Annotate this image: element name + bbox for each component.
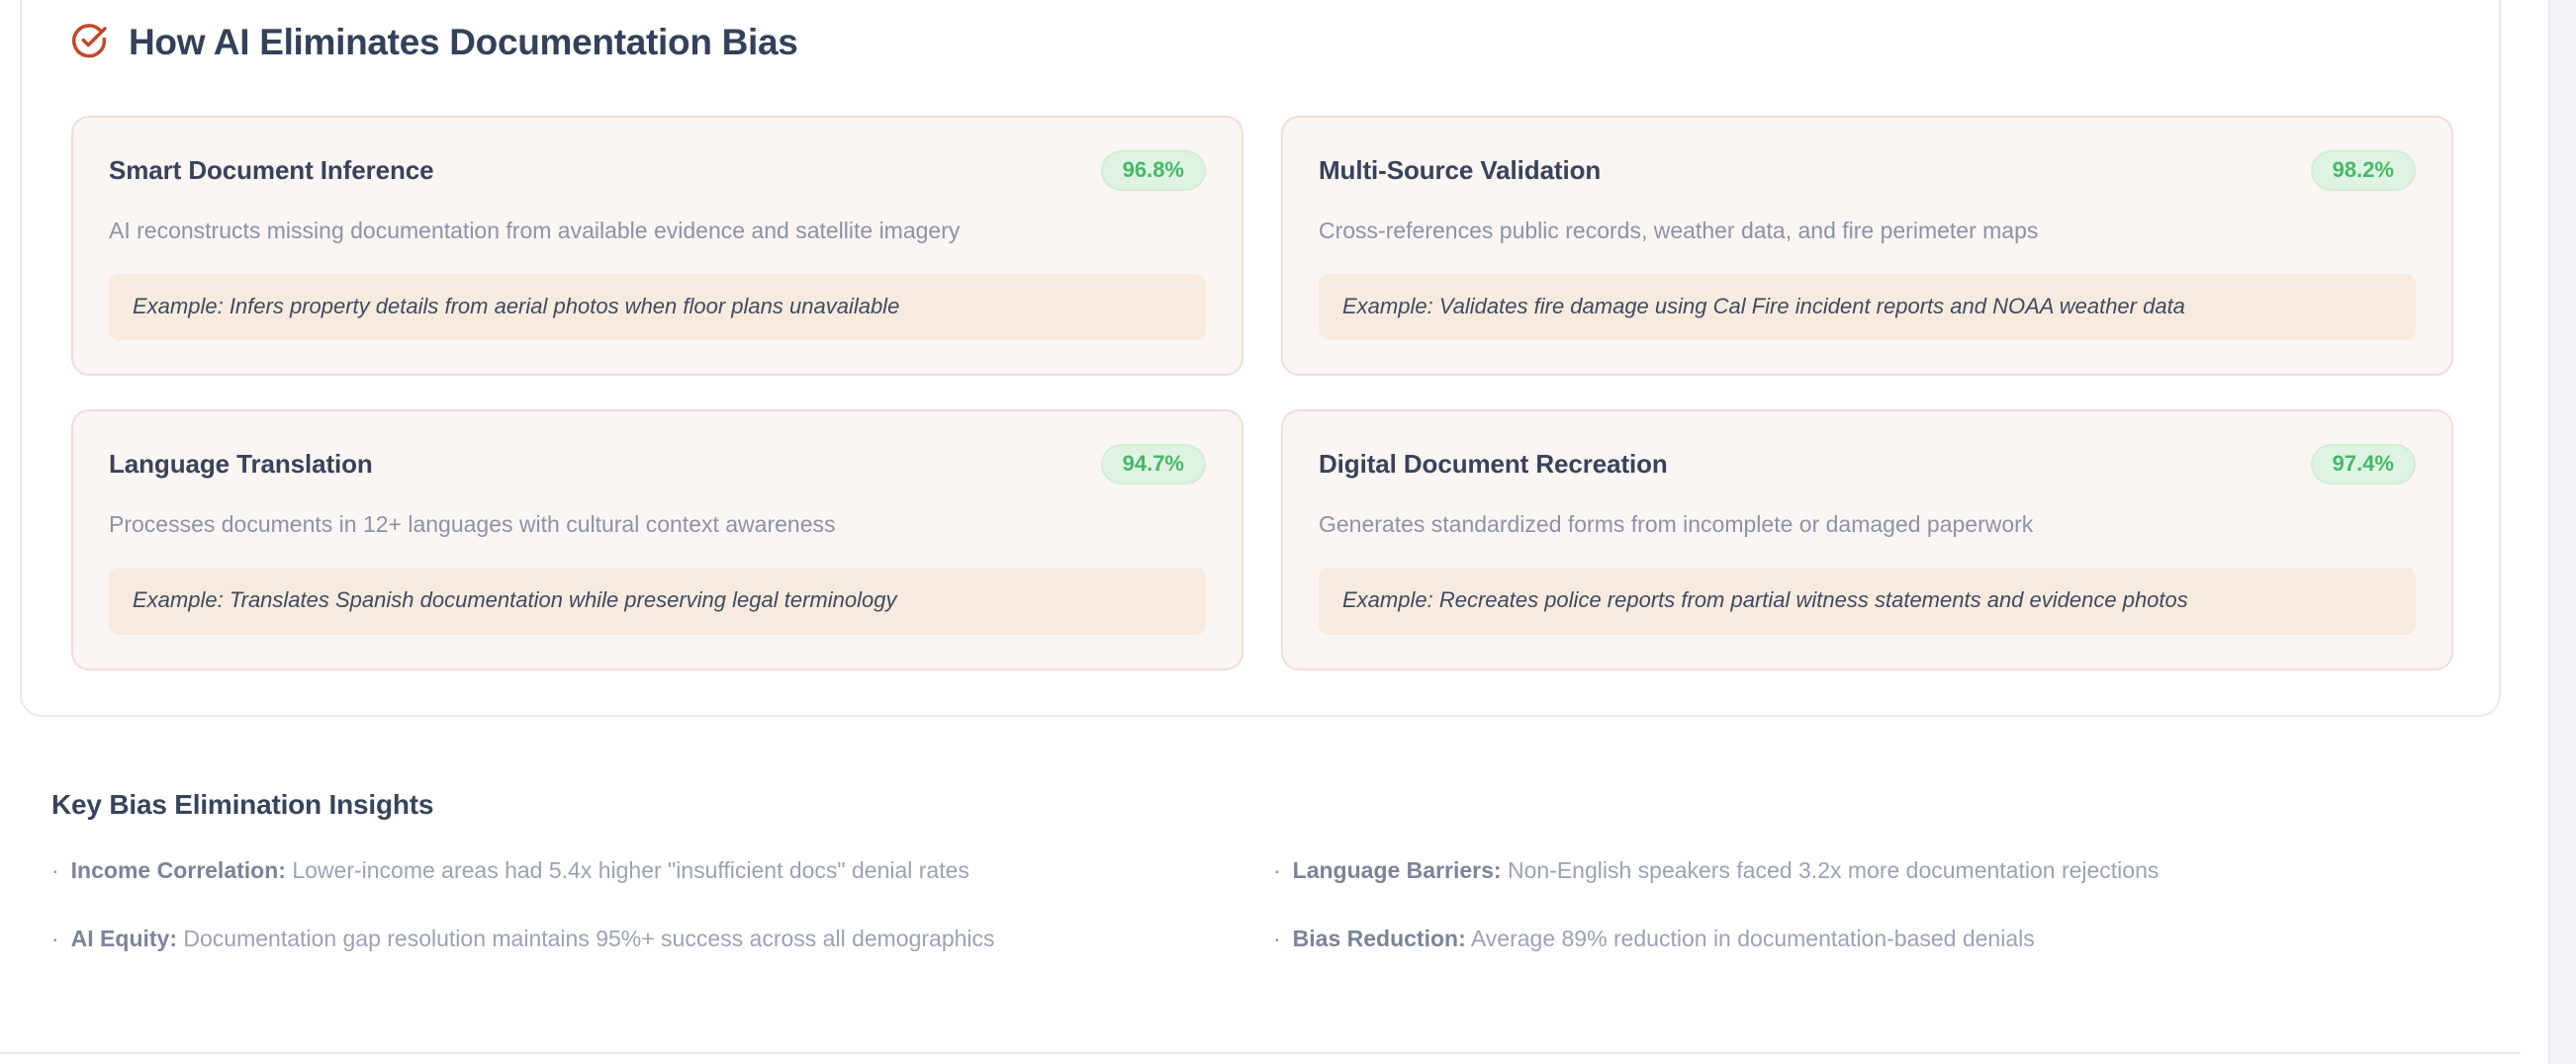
capability-description: Generates standardized forms from incomp… [1319,509,2416,540]
capability-card-header: Digital Document Recreation 97.4% [1319,443,2416,485]
bullet-icon: · [51,856,59,885]
capability-title: Language Translation [109,450,373,479]
capability-card-header: Multi-Source Validation 98.2% [1319,149,2416,191]
capability-example-box: Example: Translates Spanish documentatio… [109,568,1206,634]
key-insights-section: Key Bias Elimination Insights · Income C… [51,791,2445,953]
accuracy-badge: 97.4% [2311,444,2416,485]
capability-example-box: Example: Recreates police reports from p… [1319,568,2416,634]
capability-example-text: Example: Translates Spanish documentatio… [133,587,1182,613]
capability-card-smart-document-inference[interactable]: Smart Document Inference 96.8% AI recons… [71,116,1243,376]
insight-label: Bias Reduction: [1293,926,1466,951]
capability-card-grid: Smart Document Inference 96.8% AI recons… [71,116,2453,670]
bullet-icon: · [1273,925,1281,953]
capability-title: Digital Document Recreation [1319,450,1668,479]
section-divider [0,1052,2521,1054]
insight-item-bias-reduction: · Bias Reduction: Average 89% reduction … [1273,925,2445,953]
bullet-icon: · [1273,856,1281,885]
insight-label: AI Equity: [71,926,177,951]
capability-description: Cross-references public records, weather… [1319,216,2416,246]
capability-example-text: Example: Validates fire damage using Cal… [1342,294,2392,319]
accuracy-badge: 94.7% [1101,444,1206,485]
capability-card-multi-source-validation[interactable]: Multi-Source Validation 98.2% Cross-refe… [1281,116,2453,376]
insight-text: Average 89% reduction in documentation-b… [1471,926,2035,951]
capability-title: Smart Document Inference [109,156,433,185]
documentation-bias-panel: How AI Eliminates Documentation Bias Sma… [20,0,2501,717]
insight-text: Non-English speakers faced 3.2x more doc… [1508,857,2159,883]
page-root: How AI Eliminates Documentation Bias Sma… [0,0,2576,1064]
page-title: How AI Eliminates Documentation Bias [129,24,798,60]
capability-card-language-translation[interactable]: Language Translation 94.7% Processes doc… [71,409,1243,669]
insight-item-ai-equity: · AI Equity: Documentation gap resolutio… [51,925,1224,953]
panel-header: How AI Eliminates Documentation Bias [69,18,798,65]
insight-label: Income Correlation: [71,857,286,883]
insight-item-income-correlation: · Income Correlation: Lower-income areas… [51,856,1224,885]
capability-card-header: Smart Document Inference 96.8% [109,149,1206,191]
page-content: How AI Eliminates Documentation Bias Sma… [0,0,2548,1064]
bullet-icon: · [51,925,59,953]
insight-text: Lower-income areas had 5.4x higher "insu… [292,857,969,883]
capability-card-header: Language Translation 94.7% [109,443,1206,485]
capability-description: Processes documents in 12+ languages wit… [109,509,1206,540]
insight-item-language-barriers: · Language Barriers: Non-English speaker… [1273,856,2445,885]
capability-example-text: Example: Recreates police reports from p… [1342,587,2392,613]
insights-list: · Income Correlation: Lower-income areas… [51,856,2445,953]
capability-example-box: Example: Validates fire damage using Cal… [1319,274,2416,340]
capability-title: Multi-Source Validation [1319,156,1601,185]
accuracy-badge: 96.8% [1101,150,1206,191]
page-scrollbar-gutter[interactable] [2548,0,2576,1064]
accuracy-badge: 98.2% [2311,150,2416,191]
insights-heading: Key Bias Elimination Insights [51,791,2445,819]
capability-example-box: Example: Infers property details from ae… [109,274,1206,340]
check-circle-icon [69,22,109,61]
insight-label: Language Barriers: [1293,857,1502,883]
insight-text: Documentation gap resolution maintains 9… [183,926,994,951]
capability-example-text: Example: Infers property details from ae… [133,294,1182,319]
capability-card-digital-document-recreation[interactable]: Digital Document Recreation 97.4% Genera… [1281,409,2453,669]
capability-description: AI reconstructs missing documentation fr… [109,216,1206,246]
